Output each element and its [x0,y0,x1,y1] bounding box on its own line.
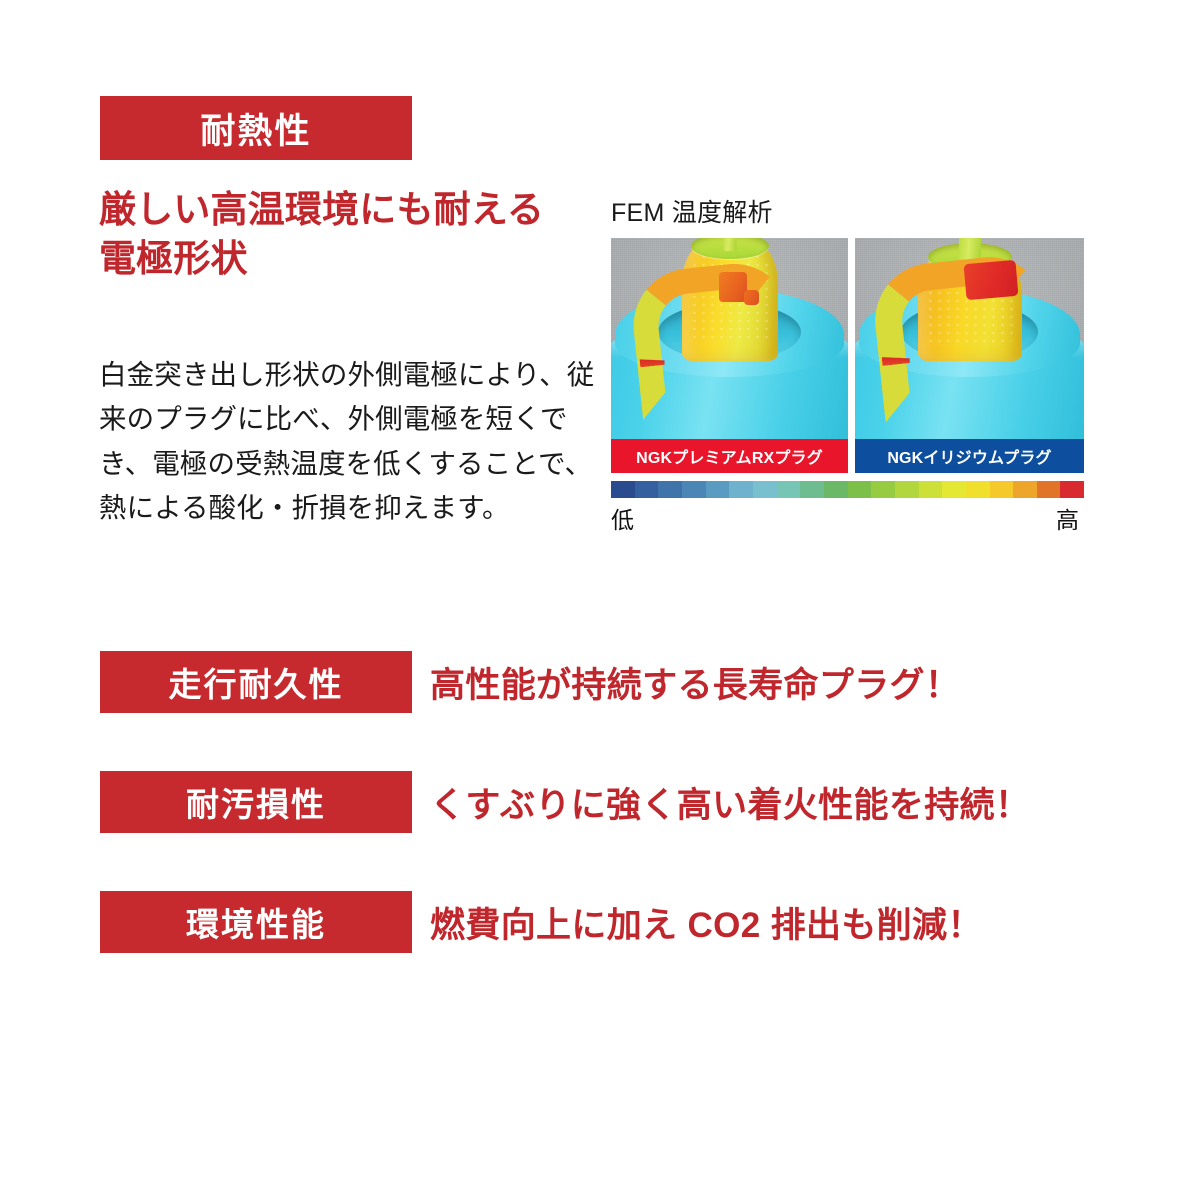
colorbar-swatch-12 [895,481,919,498]
fem-panel-label-premium-rx: NGKプレミアムRXプラグ [611,439,848,473]
heat-resistance-body-text: 白金突き出し形状の外側電極により、従来のプラグに比べ、外側電極を短くでき、電極の… [99,353,599,531]
temperature-colorbar [611,481,1084,498]
feature-row-durability: 走行耐久性 高性能が持続する長寿命プラグ！ [100,651,1100,713]
colorbar-swatch-8 [800,481,824,498]
colorbar-swatch-19 [1060,481,1084,498]
headline-line-2: 電極形状 [99,235,619,284]
colorbar-swatch-7 [777,481,801,498]
colorbar-swatch-0 [611,481,635,498]
fem-panel-premium-rx: NGKプレミアムRXプラグ [611,238,848,473]
colorbar-swatch-11 [871,481,895,498]
fem-panel-iridium: NGKイリジウムプラグ [855,238,1084,473]
colorbar-swatch-2 [658,481,682,498]
hook-platinum-pad [744,290,759,305]
colorbar-swatch-17 [1013,481,1037,498]
feature-row-environmental: 環境性能 燃費向上に加え CO2 排出も削減！ [100,891,1100,953]
hook-tip-block [964,260,1019,300]
colorbar-swatch-14 [942,481,966,498]
colorbar-swatch-1 [635,481,659,498]
colorbar-swatch-6 [753,481,777,498]
colorbar-high-label: 高 [1056,501,1079,535]
colorbar-swatch-9 [824,481,848,498]
colorbar-swatch-3 [682,481,706,498]
ground-electrode-hook [635,266,770,376]
colorbar-swatch-15 [966,481,990,498]
feature-text-fouling-resistance: くすぶりに強く高い着火性能を持続！ [430,771,1030,833]
ground-electrode-hook [877,260,1027,375]
headline-line-1: 厳しい高温環境にも耐える [99,186,619,235]
feature-badge-environmental: 環境性能 [100,891,412,953]
colorbar-swatch-13 [919,481,943,498]
feature-text-durability: 高性能が持続する長寿命プラグ！ [430,651,960,713]
center-electrode-tip [723,238,736,251]
page-root: 耐熱性 厳しい高温環境にも耐える 電極形状 白金突き出し形状の外側電極により、従… [0,0,1200,1200]
colorbar-swatch-5 [729,481,753,498]
feature-badge-fouling-resistance: 耐汚損性 [100,771,412,833]
colorbar-swatch-10 [848,481,872,498]
colorbar-swatch-4 [706,481,730,498]
section-badge-heat-resistance: 耐熱性 [100,96,412,160]
colorbar-swatch-16 [990,481,1014,498]
colorbar-low-label: 低 [611,501,634,535]
heat-resistance-headline: 厳しい高温環境にも耐える 電極形状 [99,186,619,284]
feature-text-environmental: 燃費向上に加え CO2 排出も削減！ [430,891,983,953]
colorbar-swatch-18 [1037,481,1061,498]
fem-figure-title: FEM 温度解析 [611,198,1084,228]
fem-panel-label-iridium: NGKイリジウムプラグ [855,439,1084,473]
feature-row-fouling-resistance: 耐汚損性 くすぶりに強く高い着火性能を持続！ [100,771,1100,833]
fem-panel-group: NGKプレミアムRXプラグ NGKイリジウムプラグ [611,238,1084,473]
fem-analysis-figure: FEM 温度解析 NGKプレミアムRXプラグ [611,198,1084,473]
hook-tip-block [719,272,747,302]
feature-badge-durability: 走行耐久性 [100,651,412,713]
